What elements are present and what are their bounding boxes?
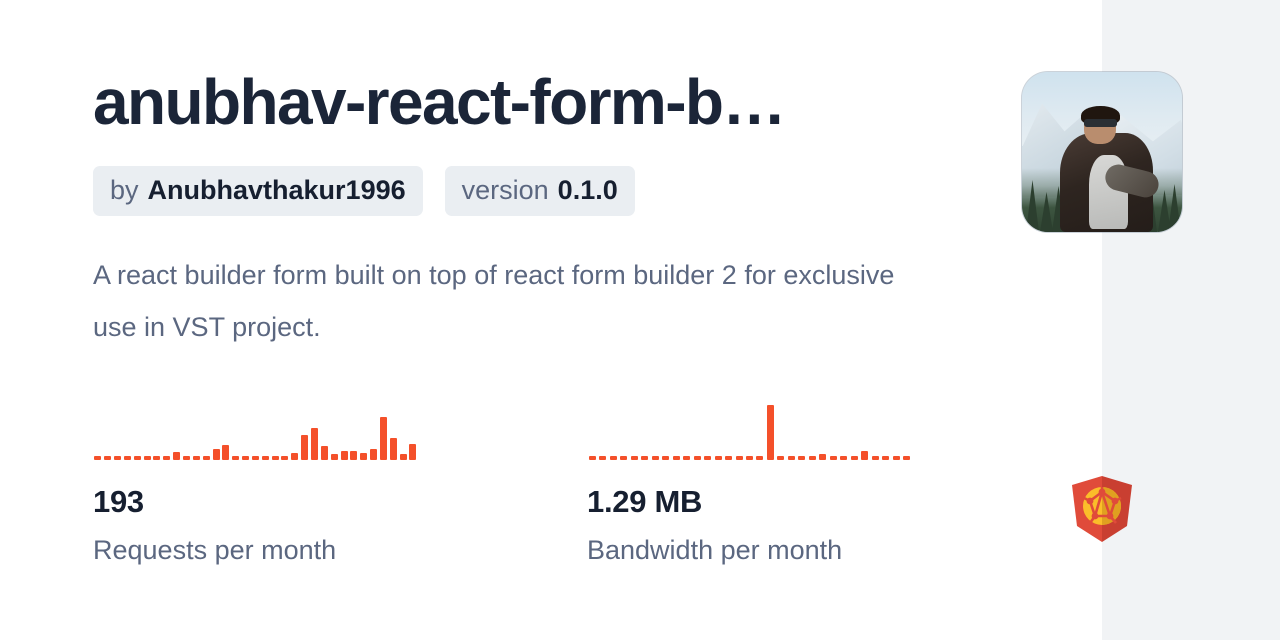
spark-bar xyxy=(272,456,279,460)
spark-slot xyxy=(881,390,891,460)
bandwidth-value: 1.29 MB xyxy=(587,484,1081,520)
spark-bar xyxy=(694,456,701,460)
spark-bar xyxy=(341,451,348,460)
stat-block-bandwidth: 1.29 MB Bandwidth per month xyxy=(587,390,1081,566)
spark-bar xyxy=(882,456,889,460)
spark-bar xyxy=(134,456,141,460)
spark-bar xyxy=(819,454,826,460)
spark-bar xyxy=(893,456,900,460)
spark-bar xyxy=(830,456,837,460)
package-meta-badges: by Anubhavthakur1996 version 0.1.0 xyxy=(93,166,635,216)
avatar xyxy=(1022,72,1182,232)
spark-bar xyxy=(631,456,638,460)
spark-slot xyxy=(692,390,702,460)
spark-slot xyxy=(103,390,113,460)
spark-slot xyxy=(818,390,828,460)
spark-slot xyxy=(93,390,103,460)
spark-bar xyxy=(409,444,416,460)
spark-bar xyxy=(321,446,328,460)
spark-bar xyxy=(94,456,101,460)
spark-bar xyxy=(331,454,338,460)
spark-bar xyxy=(861,451,868,460)
spark-bar xyxy=(370,449,377,460)
spark-bar xyxy=(683,456,690,460)
spark-slot xyxy=(162,390,172,460)
stats-row: 193 Requests per month 1.29 MB Bandwidth… xyxy=(93,390,1081,566)
spark-bar xyxy=(641,456,648,460)
bandwidth-sparkline-chart xyxy=(587,390,912,460)
spark-bar xyxy=(840,456,847,460)
spark-slot xyxy=(891,390,901,460)
spark-slot xyxy=(608,390,618,460)
spark-slot xyxy=(870,390,880,460)
spark-bar xyxy=(746,456,753,460)
spark-bar xyxy=(652,456,659,460)
spark-bar xyxy=(311,428,318,460)
spark-bar xyxy=(262,456,269,460)
spark-slot xyxy=(152,390,162,460)
main-content: anubhav-react-form-b… by Anubhavthakur19… xyxy=(0,0,1102,640)
spark-bar xyxy=(232,456,239,460)
spark-bar xyxy=(673,456,680,460)
spark-slot xyxy=(211,390,221,460)
spark-slot xyxy=(713,390,723,460)
spark-slot xyxy=(671,390,681,460)
spark-bar xyxy=(788,456,795,460)
spark-slot xyxy=(231,390,241,460)
spark-slot xyxy=(765,390,775,460)
spark-bar xyxy=(301,435,308,460)
version-badge: version 0.1.0 xyxy=(445,166,635,216)
spark-bar xyxy=(242,456,249,460)
spark-slot xyxy=(398,390,408,460)
requests-sparkline-chart xyxy=(93,390,418,460)
spark-slot xyxy=(702,390,712,460)
spark-bar xyxy=(903,456,910,460)
spark-slot xyxy=(191,390,201,460)
spark-slot xyxy=(349,390,359,460)
spark-slot xyxy=(142,390,152,460)
spark-slot xyxy=(182,390,192,460)
spark-bar xyxy=(736,456,743,460)
author-badge: by Anubhavthakur1996 xyxy=(93,166,423,216)
spark-slot xyxy=(172,390,182,460)
spark-slot xyxy=(650,390,660,460)
spark-bar xyxy=(662,456,669,460)
spark-bar xyxy=(809,456,816,460)
spark-bar xyxy=(291,453,298,460)
spark-bar xyxy=(203,456,210,460)
spark-slot xyxy=(828,390,838,460)
spark-slot xyxy=(280,390,290,460)
spark-bar xyxy=(163,456,170,460)
spark-bar xyxy=(173,452,180,460)
spark-slot xyxy=(681,390,691,460)
spark-slot xyxy=(902,390,912,460)
spark-bar xyxy=(124,456,131,460)
spark-slot xyxy=(260,390,270,460)
spark-bar xyxy=(767,405,774,460)
spark-slot xyxy=(310,390,320,460)
spark-slot xyxy=(839,390,849,460)
spark-slot xyxy=(660,390,670,460)
author-prefix-label: by xyxy=(110,175,139,205)
requests-label: Requests per month xyxy=(93,534,587,566)
spark-bar xyxy=(756,456,763,460)
page-title: anubhav-react-form-b… xyxy=(93,64,998,140)
spark-slot xyxy=(339,390,349,460)
spark-bar xyxy=(704,456,711,460)
spark-slot xyxy=(597,390,607,460)
avatar-person-sunglasses xyxy=(1084,119,1118,127)
spark-bar xyxy=(153,456,160,460)
spark-bar xyxy=(872,456,879,460)
spark-bar xyxy=(193,456,200,460)
spark-bar xyxy=(281,456,288,460)
package-description: A react builder form built on top of rea… xyxy=(93,249,913,353)
spark-slot xyxy=(388,390,398,460)
spark-slot xyxy=(807,390,817,460)
spark-slot xyxy=(123,390,133,460)
spark-slot xyxy=(849,390,859,460)
spark-bar xyxy=(715,456,722,460)
requests-value: 193 xyxy=(93,484,587,520)
spark-bar xyxy=(104,456,111,460)
spark-slot xyxy=(290,390,300,460)
spark-slot xyxy=(587,390,597,460)
spark-slot xyxy=(221,390,231,460)
spark-slot xyxy=(744,390,754,460)
spark-slot xyxy=(860,390,870,460)
spark-slot xyxy=(378,390,388,460)
spark-slot xyxy=(132,390,142,460)
spark-slot xyxy=(201,390,211,460)
spark-slot xyxy=(776,390,786,460)
spark-slot xyxy=(241,390,251,460)
spark-bar xyxy=(400,454,407,460)
spark-slot xyxy=(369,390,379,460)
spark-bar xyxy=(725,456,732,460)
spark-slot xyxy=(270,390,280,460)
spark-bar xyxy=(380,417,387,460)
spark-bar xyxy=(183,456,190,460)
spark-bar xyxy=(252,456,259,460)
spark-bar xyxy=(798,456,805,460)
spark-slot xyxy=(251,390,261,460)
spark-slot xyxy=(329,390,339,460)
version-prefix-label: version xyxy=(462,175,549,205)
spark-bar xyxy=(851,456,858,460)
spark-slot xyxy=(734,390,744,460)
spark-bar xyxy=(222,445,229,460)
jsdelivr-logo-icon xyxy=(1072,476,1132,542)
spark-slot xyxy=(786,390,796,460)
spark-bar xyxy=(360,453,367,460)
spark-bar xyxy=(114,456,121,460)
spark-slot xyxy=(359,390,369,460)
spark-slot xyxy=(618,390,628,460)
spark-bar xyxy=(144,456,151,460)
spark-bar xyxy=(589,456,596,460)
bandwidth-label: Bandwidth per month xyxy=(587,534,1081,566)
spark-slot xyxy=(723,390,733,460)
spark-slot xyxy=(408,390,418,460)
spark-bar xyxy=(390,438,397,460)
author-name: Anubhavthakur1996 xyxy=(148,175,406,205)
spark-slot xyxy=(319,390,329,460)
spark-slot xyxy=(797,390,807,460)
spark-bar xyxy=(213,449,220,460)
spark-bar xyxy=(777,456,784,460)
spark-slot xyxy=(300,390,310,460)
spark-slot xyxy=(113,390,123,460)
spark-bar xyxy=(610,456,617,460)
spark-slot xyxy=(629,390,639,460)
spark-slot xyxy=(639,390,649,460)
spark-bar xyxy=(350,451,357,460)
spark-bar xyxy=(599,456,606,460)
version-number: 0.1.0 xyxy=(558,175,618,205)
spark-bar xyxy=(620,456,627,460)
spark-slot xyxy=(755,390,765,460)
stat-block-requests: 193 Requests per month xyxy=(93,390,587,566)
